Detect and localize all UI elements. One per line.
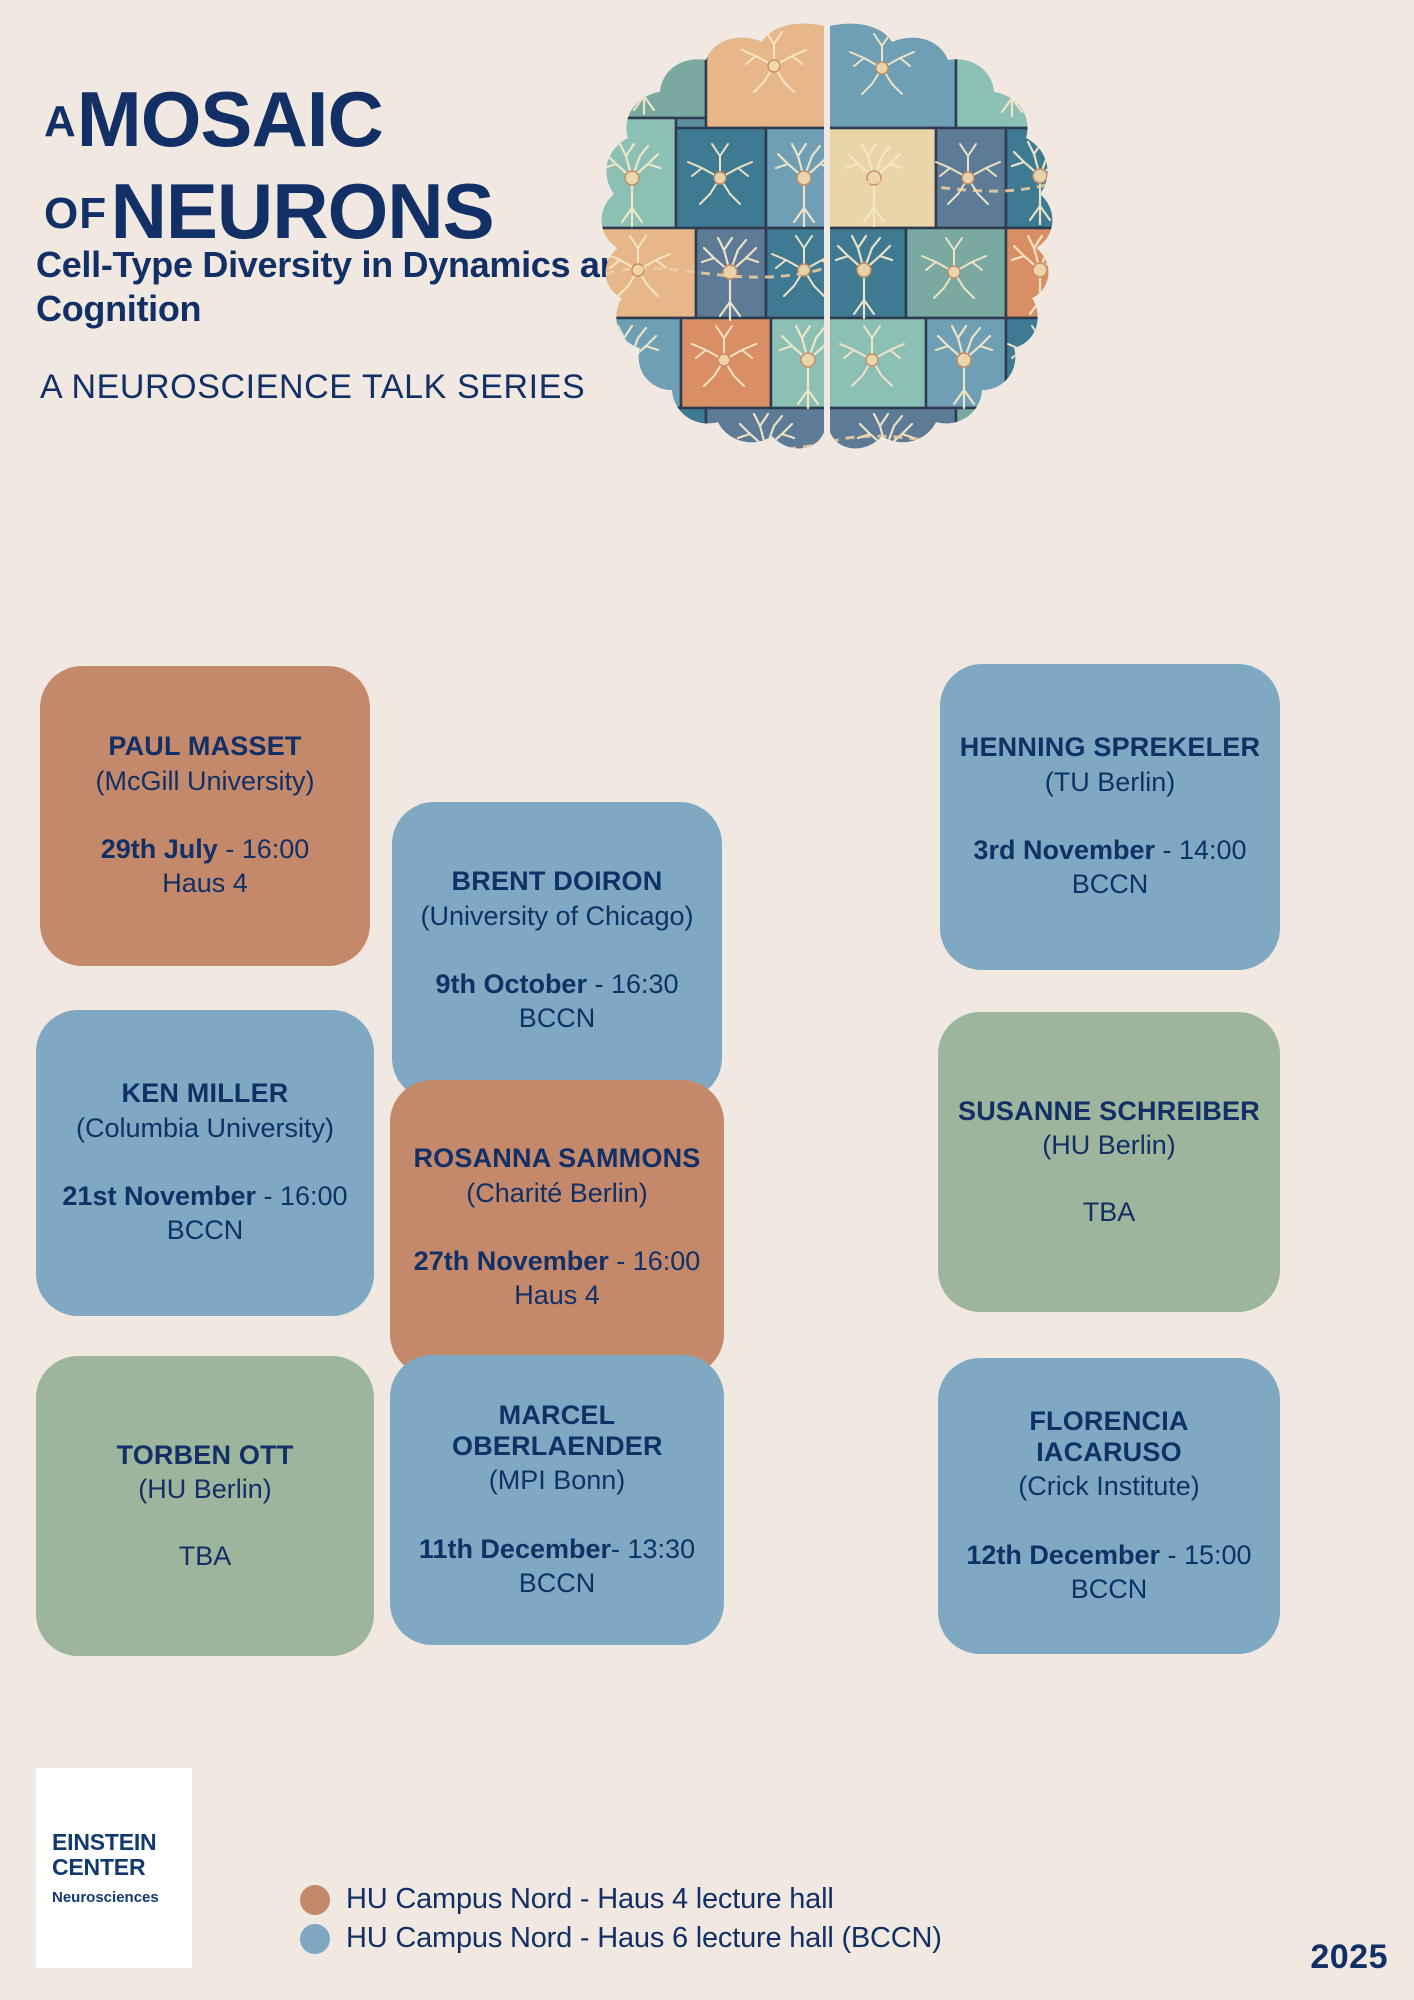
legend-label: HU Campus Nord - Haus 4 lecture hall xyxy=(346,1883,834,1916)
title-line-2: OF NEURONS xyxy=(44,172,684,250)
logo-line-einstein: EINSTEIN xyxy=(52,1830,192,1855)
speaker-venue: Haus 4 xyxy=(162,867,248,901)
title-word-of: OF xyxy=(44,189,107,238)
speaker-name: FLORENCIA IACARUSO xyxy=(954,1406,1264,1469)
speaker-time: 16:30 xyxy=(611,969,679,999)
speaker-affiliation: (University of Chicago) xyxy=(420,900,693,932)
speaker-tba: TBA xyxy=(1083,1197,1136,1228)
legend-item-haus4: HU Campus Nord - Haus 4 lecture hall xyxy=(300,1883,942,1916)
speaker-separator: - xyxy=(1160,1540,1184,1570)
speaker-datetime: 11th December- 13:30 xyxy=(419,1533,695,1567)
speaker-separator: - xyxy=(256,1181,280,1211)
title-word-a: A xyxy=(44,97,77,146)
speaker-affiliation: (Columbia University) xyxy=(76,1112,334,1144)
speaker-affiliation: (McGill University) xyxy=(96,765,315,797)
speaker-card-iacaruso-final[interactable]: FLORENCIA IACARUSO (Crick Institute) 12t… xyxy=(938,1358,1280,1654)
poster-root: AMOSAIC OF NEURONS Cell-Type Diversity i… xyxy=(0,0,1414,2000)
logo-line-center: CENTER xyxy=(52,1855,192,1880)
speaker-datetime: 9th October - 16:30 xyxy=(435,968,678,1002)
speaker-card-marcel-oberlaender[interactable]: MARCEL OBERLAENDER (MPI Bonn) 11th Decem… xyxy=(390,1355,724,1645)
speaker-datetime: 12th December - 15:00 xyxy=(966,1539,1251,1573)
poster-title: AMOSAIC OF NEURONS xyxy=(44,80,684,250)
speaker-card-brent-doiron[interactable]: BRENT DOIRON (University of Chicago) 9th… xyxy=(392,802,722,1100)
speaker-name: ROSANNA SAMMONS xyxy=(413,1143,700,1174)
speaker-time: 16:00 xyxy=(242,834,310,864)
speaker-affiliation: (HU Berlin) xyxy=(138,1473,272,1505)
poster-year: 2025 xyxy=(1310,1938,1388,1977)
speaker-time: 13:30 xyxy=(628,1534,696,1564)
speaker-separator: - xyxy=(587,969,611,999)
poster-subtitle: Cell-Type Diversity in Dynamics and Cogn… xyxy=(36,243,656,331)
speaker-datetime: 27th November - 16:00 xyxy=(414,1245,701,1279)
speaker-separator: - xyxy=(218,834,242,864)
speaker-venue: BCCN xyxy=(1072,868,1149,902)
speaker-affiliation: (HU Berlin) xyxy=(1042,1129,1176,1161)
speaker-name: SUSANNE SCHREIBER xyxy=(958,1096,1260,1127)
speaker-affiliation: (TU Berlin) xyxy=(1045,766,1176,798)
speaker-date: 11th December xyxy=(419,1534,611,1564)
speaker-affiliation: (MPI Bonn) xyxy=(489,1464,626,1496)
speaker-date: 21st November xyxy=(62,1181,256,1211)
speaker-datetime: 29th July - 16:00 xyxy=(101,833,310,867)
poster-series-label: A NEUROSCIENCE TALK SERIES xyxy=(40,368,585,407)
speaker-name: MARCEL OBERLAENDER xyxy=(452,1400,662,1463)
speaker-card-henning-sprekeler[interactable]: HENNING SPREKELER (TU Berlin) 3rd Novemb… xyxy=(940,664,1280,970)
speaker-time: 16:00 xyxy=(280,1181,348,1211)
legend-dot-blue-icon xyxy=(300,1924,330,1954)
title-word-neurons: NEURONS xyxy=(111,167,494,255)
speaker-date: 3rd November xyxy=(973,835,1155,865)
speaker-name: KEN MILLER xyxy=(122,1078,289,1109)
speaker-affiliation: (Charité Berlin) xyxy=(466,1177,648,1209)
speaker-venue: Haus 4 xyxy=(514,1279,600,1313)
speaker-separator: - xyxy=(1155,835,1179,865)
einstein-center-logo: EINSTEIN CENTER Neurosciences xyxy=(36,1768,192,1968)
legend-dot-terracotta-icon xyxy=(300,1885,330,1915)
speaker-date: 9th October xyxy=(435,969,587,999)
speaker-separator: - xyxy=(609,1246,633,1276)
speaker-venue: BCCN xyxy=(519,1002,596,1036)
speaker-venue: BCCN xyxy=(519,1567,596,1601)
speaker-name: TORBEN OTT xyxy=(117,1440,294,1471)
speaker-card-rosanna-sammons[interactable]: ROSANNA SAMMONS (Charité Berlin) 27th No… xyxy=(390,1080,724,1376)
title-word-mosaic: MOSAIC xyxy=(77,75,383,163)
legend-label: HU Campus Nord - Haus 6 lecture hall (BC… xyxy=(346,1922,942,1955)
speaker-card-ken-miller[interactable]: KEN MILLER (Columbia University) 21st No… xyxy=(36,1010,374,1316)
speaker-name: BRENT DOIRON xyxy=(452,866,663,897)
title-line-1: AMOSAIC xyxy=(44,80,684,158)
speaker-date: 27th November xyxy=(414,1246,609,1276)
speaker-time: 16:00 xyxy=(633,1246,701,1276)
speaker-card-paul-masset[interactable]: PAUL MASSET (McGill University) 29th Jul… xyxy=(40,666,370,966)
speaker-datetime: 21st November - 16:00 xyxy=(62,1180,347,1214)
speaker-venue: BCCN xyxy=(1071,1573,1148,1607)
speaker-name: HENNING SPREKELER xyxy=(960,732,1260,763)
speaker-date: 12th December xyxy=(966,1540,1160,1570)
speaker-time: 14:00 xyxy=(1179,835,1247,865)
speaker-separator: - xyxy=(611,1534,628,1564)
speaker-name: PAUL MASSET xyxy=(108,731,301,762)
speaker-card-susanne-schreiber[interactable]: SUSANNE SCHREIBER (HU Berlin) TBA xyxy=(938,1012,1280,1312)
speaker-datetime: 3rd November - 14:00 xyxy=(973,834,1246,868)
venue-legend: HU Campus Nord - Haus 4 lecture hall HU … xyxy=(300,1883,942,1961)
speaker-affiliation: (Crick Institute) xyxy=(1018,1470,1200,1502)
logo-line-neurosciences: Neurosciences xyxy=(52,1889,192,1906)
speaker-date: 29th July xyxy=(101,834,218,864)
speaker-tba: TBA xyxy=(179,1541,232,1572)
speaker-card-torben-ott[interactable]: TORBEN OTT (HU Berlin) TBA xyxy=(36,1356,374,1656)
speaker-time: 15:00 xyxy=(1184,1540,1252,1570)
brain-mosaic-illustration xyxy=(596,18,1058,478)
legend-item-haus6: HU Campus Nord - Haus 6 lecture hall (BC… xyxy=(300,1922,942,1955)
speaker-venue: BCCN xyxy=(167,1214,244,1248)
